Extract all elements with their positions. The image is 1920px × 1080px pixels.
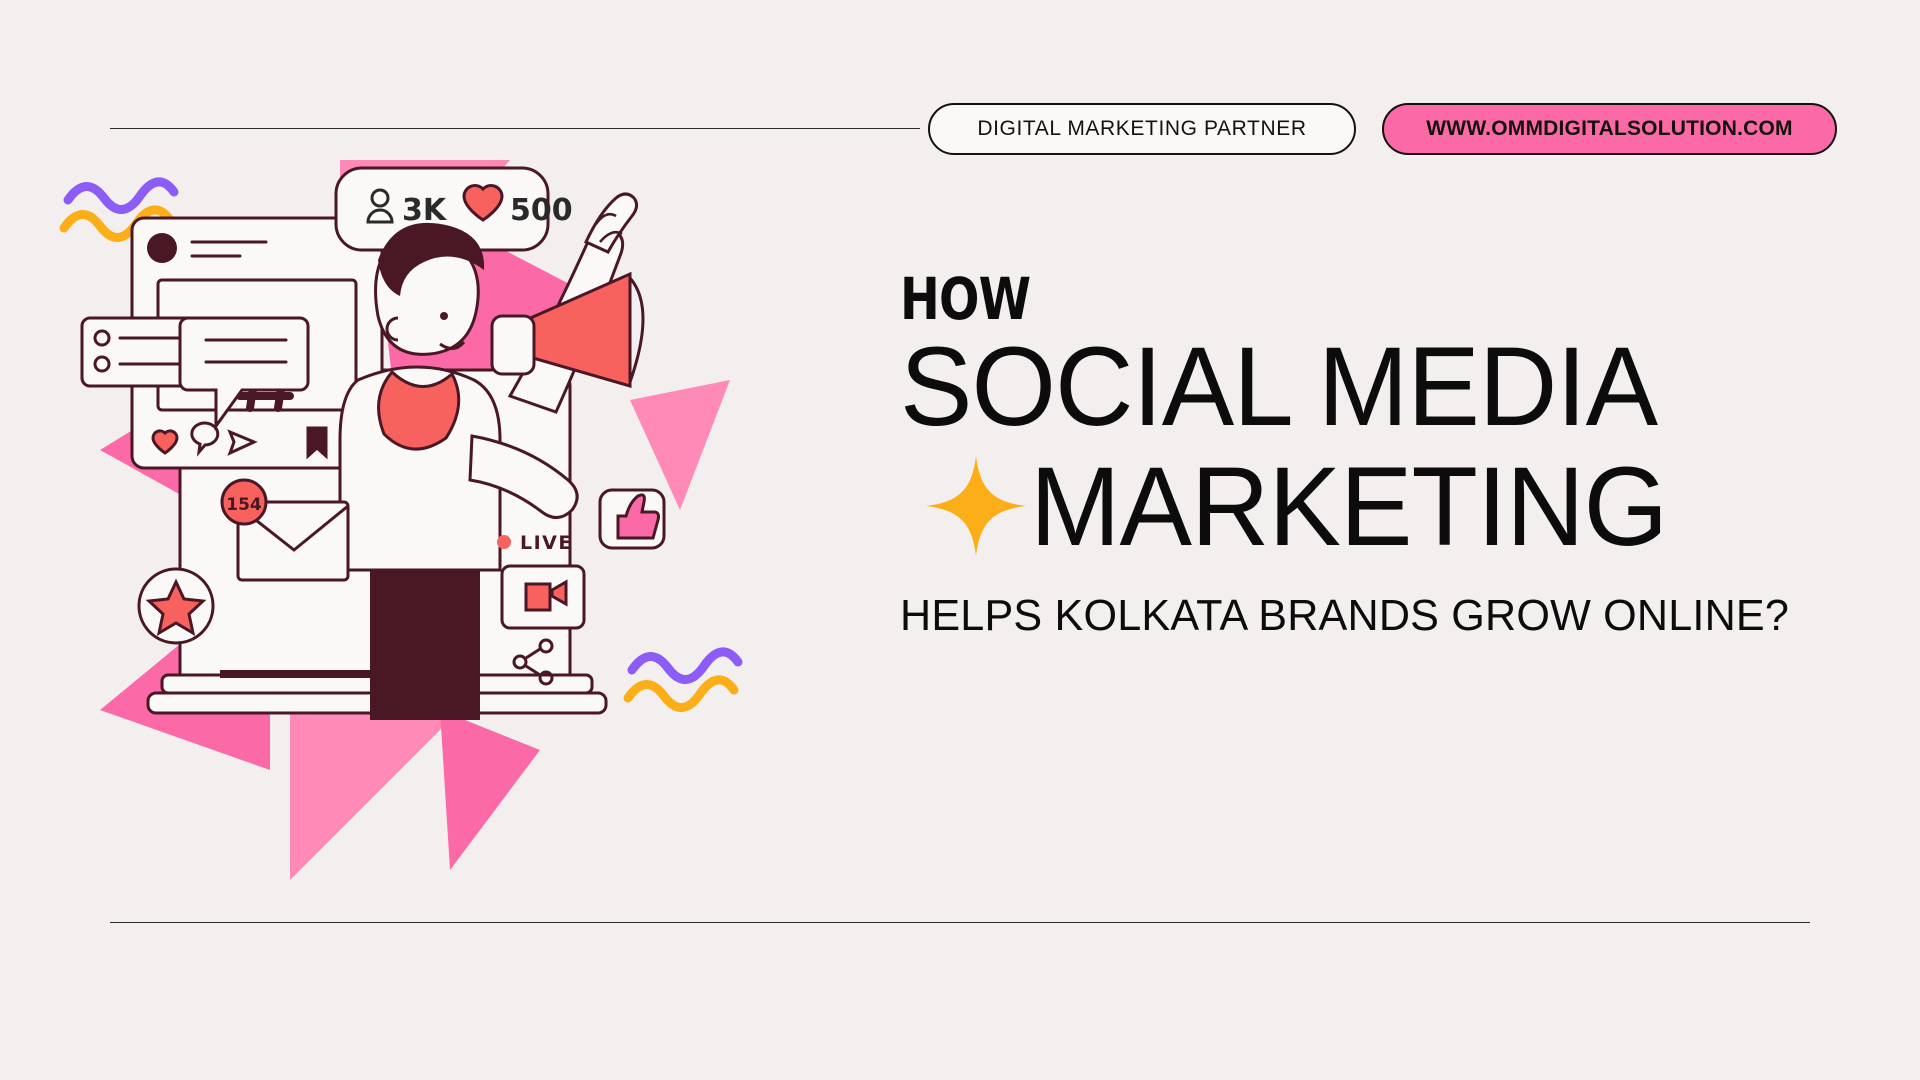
sparkle-star-icon: [924, 454, 1028, 558]
website-url-label: WWW.OMMDIGITALSOLUTION.COM: [1426, 117, 1792, 141]
banner-root: DIGITAL MARKETING PARTNER WWW.OMMDIGITAL…: [0, 0, 1920, 1080]
partner-badge-label: DIGITAL MARKETING PARTNER: [977, 117, 1306, 141]
headline-line-2: MARKETING: [1030, 448, 1667, 566]
followers-count: 3K: [402, 193, 448, 228]
star-badge: [139, 569, 213, 643]
squiggle-decoration-bottom: [628, 652, 738, 708]
bottom-divider-rule: [110, 922, 1810, 923]
headline-subline: HELPS KOLKATA BRANDS GROW ONLINE?: [900, 591, 1802, 641]
top-divider-rule: [110, 128, 920, 129]
mail-badge-count: 154: [226, 495, 262, 515]
person-eye: [440, 312, 448, 320]
post-avatar: [147, 233, 177, 263]
hero-illustration: 3K 500: [40, 150, 870, 910]
likes-count: 500: [510, 193, 573, 228]
headline-line-2-row: MARKETING: [900, 448, 1820, 566]
illustration-svg: 3K 500: [40, 150, 870, 910]
live-label: LIVE: [520, 532, 573, 554]
website-url-badge[interactable]: WWW.OMMDIGITALSOLUTION.COM: [1382, 103, 1837, 155]
play-video-icon: [502, 566, 584, 628]
headline-line-1: SOCIAL MEDIA: [900, 328, 1792, 446]
partner-badge[interactable]: DIGITAL MARKETING PARTNER: [928, 103, 1356, 155]
person-hand-pointing: [586, 194, 637, 252]
headline-kicker: HOW: [900, 270, 1654, 328]
headline-block: HOW SOCIAL MEDIA MARKETING HELPS KOLKATA…: [900, 270, 1820, 641]
thumbs-up-icon: [600, 490, 664, 548]
person-lower-body: [370, 570, 480, 720]
